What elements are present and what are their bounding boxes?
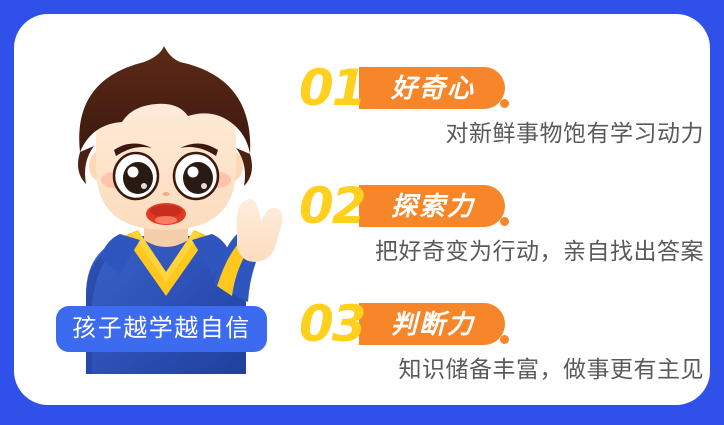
feature-pill-01: 好奇心 xyxy=(359,67,505,109)
feature-number-02: 02 xyxy=(299,178,365,234)
head xyxy=(78,46,252,230)
feature-dot-03 xyxy=(500,335,509,344)
feature-pill-03: 判断力 xyxy=(359,303,505,345)
feature-number-01: 01 xyxy=(299,60,365,116)
feature-dot-01 xyxy=(500,99,509,108)
feature-dot-02 xyxy=(500,217,509,226)
feature-title-02: 探索力 xyxy=(391,193,475,219)
feature-title-01: 好奇心 xyxy=(391,75,475,101)
feature-desc-02: 把好奇变为行动，亲自找出答案 xyxy=(375,234,704,268)
feature-header-02: 02 探索力 xyxy=(299,178,710,234)
badge-label: 孩子越学越自信 xyxy=(72,317,251,341)
feature-title-03: 判断力 xyxy=(391,311,475,337)
feature-list: 01 好奇心 对新鲜事物饱有学习动力 02 探索力 把好奇变为行动，亲 xyxy=(299,60,710,405)
feature-desc-01: 对新鲜事物饱有学习动力 xyxy=(446,116,705,150)
feature-item-02: 02 探索力 把好奇变为行动，亲自找出答案 xyxy=(299,178,710,296)
feature-item-01: 01 好奇心 对新鲜事物饱有学习动力 xyxy=(299,60,710,178)
feature-header-03: 03 判断力 xyxy=(299,296,710,352)
white-card: 孩子越学越自信 01 好奇心 对新鲜事物饱有学习动力 02 xyxy=(14,14,710,405)
feature-pill-02: 探索力 xyxy=(359,185,505,227)
feature-desc-03: 知识储备丰富，做事更有主见 xyxy=(399,352,705,386)
feature-number-03: 03 xyxy=(299,296,365,352)
feature-header-01: 01 好奇心 xyxy=(299,60,710,116)
confidence-badge: 孩子越学越自信 xyxy=(56,306,267,352)
feature-item-03: 03 判断力 知识储备丰富，做事更有主见 xyxy=(299,296,710,405)
poster-root: 孩子越学越自信 01 好奇心 对新鲜事物饱有学习动力 02 xyxy=(0,0,724,425)
